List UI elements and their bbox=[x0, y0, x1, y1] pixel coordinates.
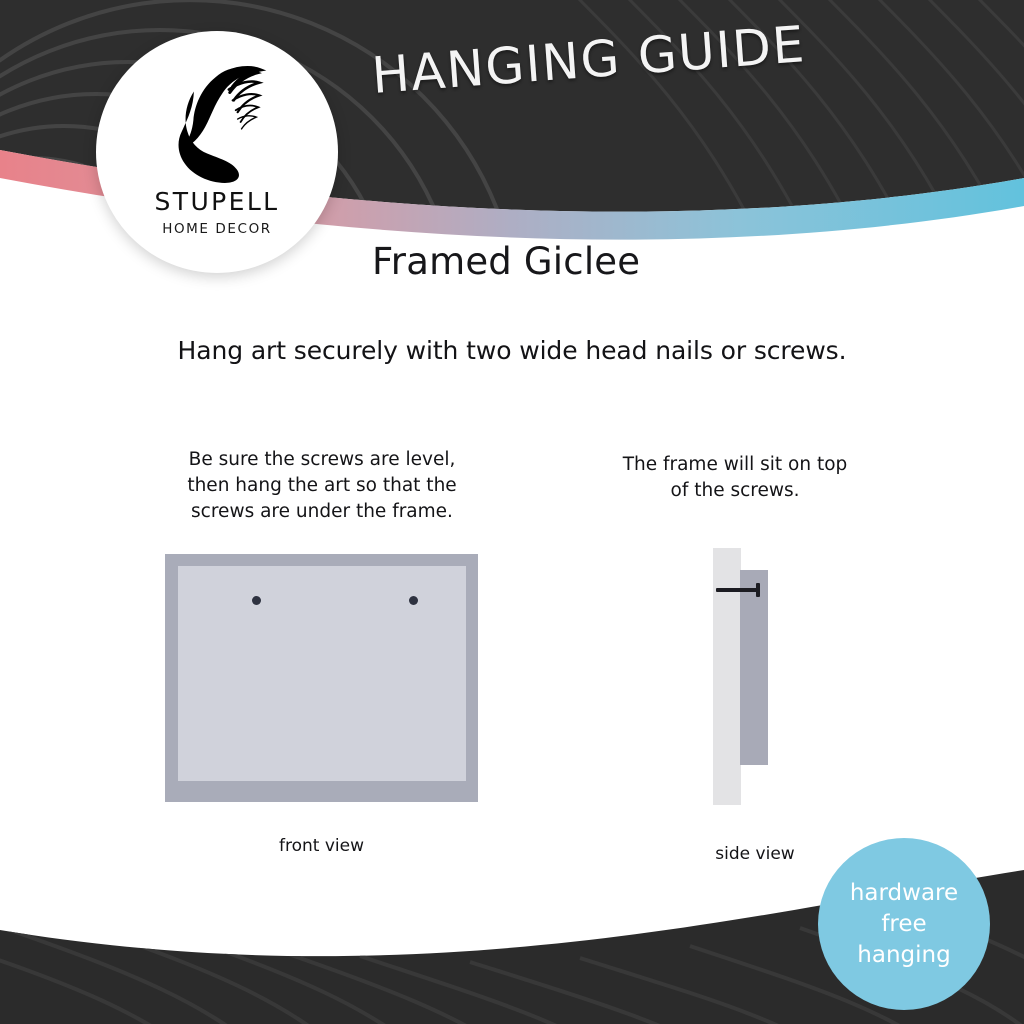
side-view-screw-head-icon bbox=[756, 583, 760, 597]
side-view-frame-slab bbox=[740, 570, 768, 765]
badge-line-1: hardware bbox=[850, 878, 958, 909]
badge-line-3: hanging bbox=[857, 940, 950, 971]
side-view-screw-icon bbox=[716, 588, 760, 592]
front-view-caption: front view bbox=[165, 836, 478, 856]
hardware-free-hanging-badge: hardware free hanging bbox=[818, 838, 990, 1010]
hanging-guide-page: HANGING GUIDE STUPELL HOME DECOR Framed … bbox=[0, 0, 1024, 1024]
page-title: HANGING GUIDE bbox=[370, 15, 808, 105]
side-view-note: The frame will sit on top of the screws. bbox=[600, 452, 870, 504]
screw-dot-left-icon bbox=[252, 596, 261, 605]
brand-logo-badge: STUPELL HOME DECOR bbox=[96, 31, 338, 273]
side-view-caption: side view bbox=[680, 844, 830, 864]
logo-wordmark: STUPELL bbox=[155, 187, 280, 216]
badge-line-2: free bbox=[881, 909, 926, 940]
screw-dot-right-icon bbox=[409, 596, 418, 605]
logo-tagline: HOME DECOR bbox=[162, 221, 272, 237]
side-view-diagram bbox=[700, 540, 810, 820]
side-view-note-line-1: The frame will sit on top bbox=[600, 452, 870, 478]
front-view-diagram bbox=[165, 554, 478, 802]
front-view-note-line-3: screws are under the frame. bbox=[150, 499, 494, 525]
main-instruction-text: Hang art securely with two wide head nai… bbox=[0, 336, 1024, 365]
product-title: Framed Giclee bbox=[372, 240, 640, 283]
front-view-note: Be sure the screws are level, then hang … bbox=[150, 447, 494, 525]
front-view-note-line-1: Be sure the screws are level, bbox=[150, 447, 494, 473]
front-view-mat bbox=[178, 566, 466, 781]
side-view-note-line-2: of the screws. bbox=[600, 478, 870, 504]
side-view-wall bbox=[713, 548, 741, 805]
front-view-note-line-2: then hang the art so that the bbox=[150, 473, 494, 499]
stupell-swoosh-logo-icon bbox=[158, 59, 276, 185]
